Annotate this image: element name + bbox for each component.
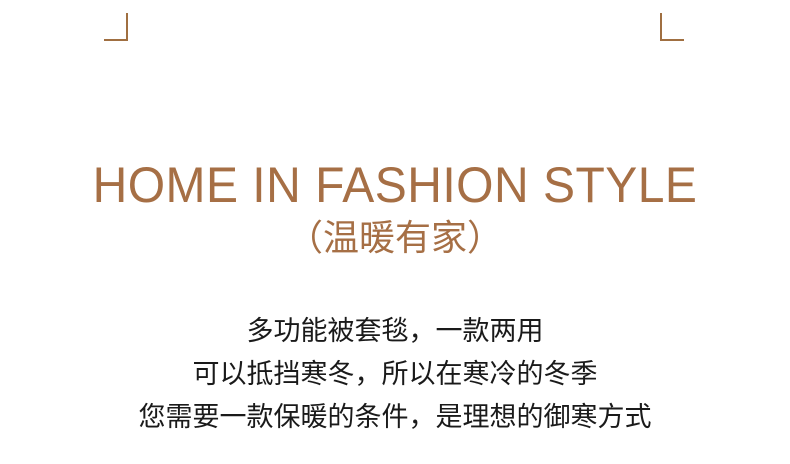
description-line: 可以抵挡寒冬，所以在寒冷的冬季 (0, 353, 790, 396)
corner-bracket-right-vertical-rule (660, 13, 662, 41)
corner-bracket-right-horizontal-rule (660, 39, 684, 41)
corner-bracket-left-horizontal-rule (104, 39, 128, 41)
banner-description: 多功能被套毯，一款两用 可以抵挡寒冬，所以在寒冷的冬季 您需要一款保暖的条件，是… (0, 310, 790, 439)
description-line: 多功能被套毯，一款两用 (0, 310, 790, 353)
corner-bracket-left-icon (104, 13, 128, 41)
banner-subtitle: （温暖有家） (0, 216, 790, 261)
corner-bracket-left-vertical-rule (126, 13, 128, 41)
promo-banner: HOME IN FASHION STYLE （温暖有家） 多功能被套毯，一款两用… (0, 0, 790, 464)
corner-bracket-right-icon (660, 13, 684, 41)
banner-headline: HOME IN FASHION STYLE (16, 160, 774, 210)
description-line: 您需要一款保暖的条件，是理想的御寒方式 (0, 396, 790, 439)
